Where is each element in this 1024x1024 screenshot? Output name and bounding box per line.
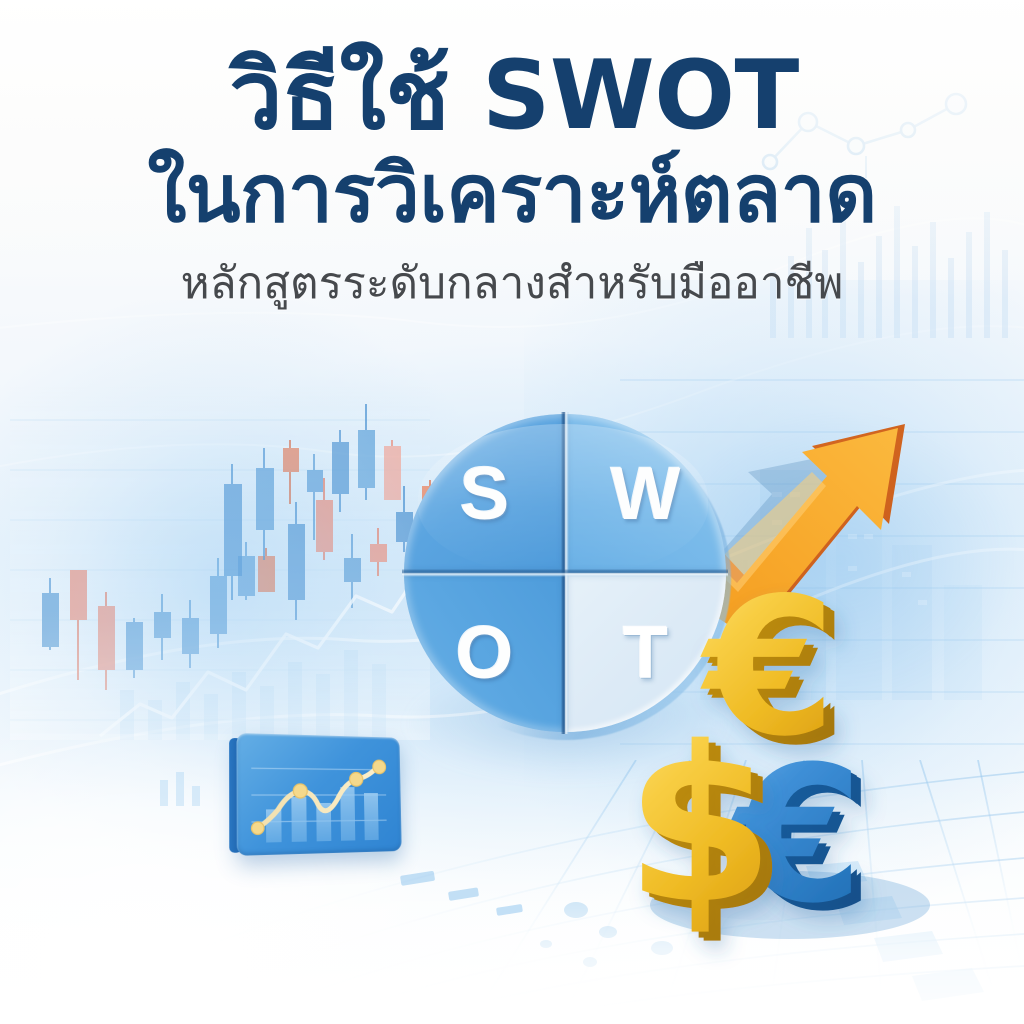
mini-chart-svg (237, 733, 402, 856)
euro-blue-symbol: € € € (729, 726, 874, 953)
euro-blue-glyph: € (729, 726, 864, 945)
mini-chart-card[interactable] (237, 733, 402, 856)
floor-grid (80, 760, 1024, 1024)
svg-text:€: € (735, 731, 870, 950)
currency-ground-shadow (650, 871, 930, 939)
swot-letter-o: O (456, 616, 514, 690)
swot-divider-horizontal (402, 570, 728, 577)
title-block: วิธีใช้ SWOT ในการวิเคราะห์ตลาด หลักสูตร… (0, 48, 1024, 318)
swot-quadrant-weaknesses[interactable]: W (565, 414, 726, 573)
chart-card-face (237, 733, 402, 856)
swot-letter-s: S (460, 457, 509, 531)
poster-canvas: S W O T (0, 0, 1024, 1024)
svg-text:€: € (711, 566, 847, 787)
swot-diagram[interactable]: S W O T (404, 414, 726, 732)
page-title-line-1: วิธีใช้ SWOT (0, 48, 1024, 145)
page-title-line-2: ในการวิเคราะห์ตลาด (0, 153, 1024, 235)
swot-quadrant-strengths[interactable]: S (404, 414, 565, 573)
page-subtitle: หลักสูตรระดับกลางสำหรับมืออาชีพ (0, 248, 1024, 318)
swot-letter-w: W (611, 457, 681, 531)
swot-letter-t: T (623, 616, 668, 690)
wash-bottom (0, 774, 1024, 1024)
svg-text:€: € (739, 734, 874, 953)
